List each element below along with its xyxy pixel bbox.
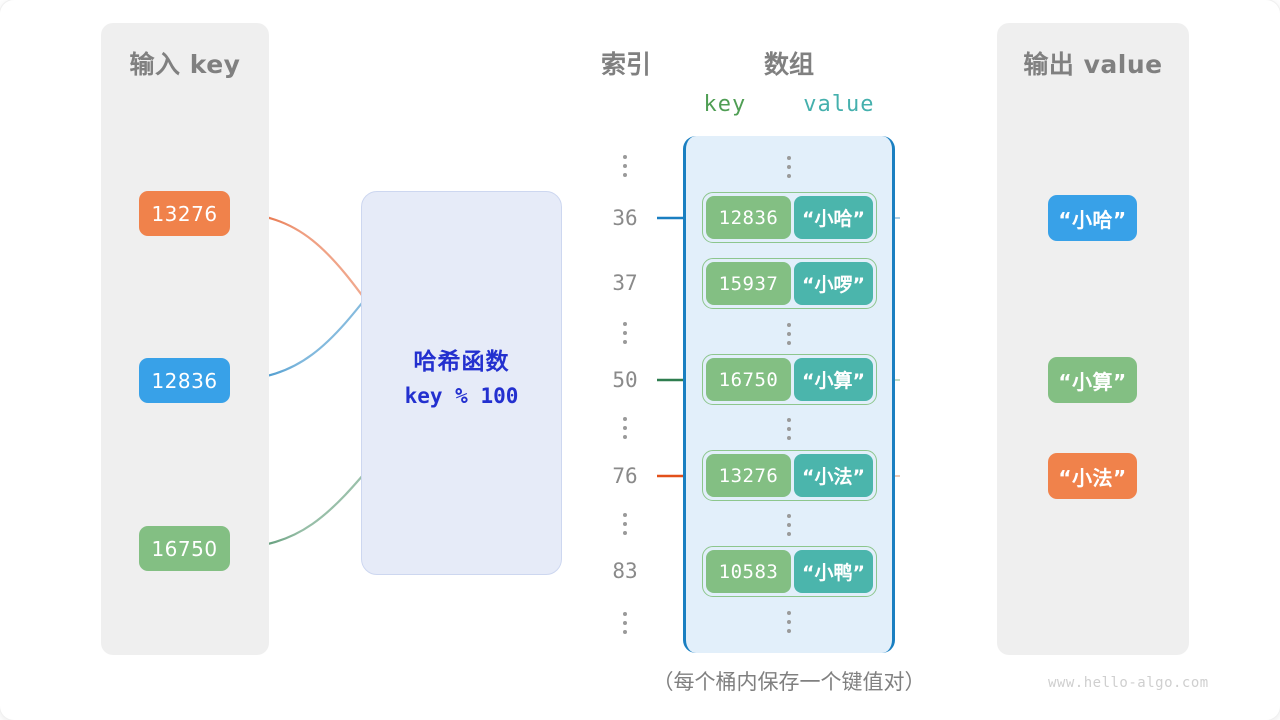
- output-value-xiaoha[interactable]: “小哈”: [1048, 195, 1137, 241]
- index-50: 50: [595, 368, 655, 392]
- array-key-cell: 16750: [706, 358, 791, 401]
- input-key-13276-label: 13276: [151, 202, 217, 226]
- index-column-header: 索引: [588, 45, 664, 81]
- output-value-xiaosuan-label: “小算”: [1058, 366, 1126, 395]
- output-value-xiaofa-label: “小法”: [1058, 462, 1126, 491]
- array-dots: [782, 323, 796, 345]
- array-key-cell: 12836: [706, 196, 791, 239]
- array-key-header-label: key: [704, 92, 747, 117]
- hash-function-box: 哈希函数 key % 100: [361, 191, 562, 575]
- array-key-cell: 15937: [706, 262, 791, 305]
- output-value-panel-title: 输出 value: [997, 45, 1189, 81]
- array-kv-header: key value: [683, 92, 895, 117]
- array-value-cell: “小啰”: [794, 262, 873, 305]
- hash-function-name: 哈希函数: [362, 342, 561, 376]
- array-dots: [782, 611, 796, 633]
- output-value-xiaofa[interactable]: “小法”: [1048, 453, 1137, 499]
- array-dots: [782, 514, 796, 536]
- index-dots: [618, 155, 632, 177]
- diagram-canvas: 输入 key 13276 12836 16750 哈希函数 key % 100 …: [0, 0, 1280, 720]
- array-row-12836[interactable]: 12836 “小哈”: [702, 192, 877, 243]
- array-value-header-label: value: [803, 92, 874, 117]
- index-dots: [618, 322, 632, 344]
- index-83: 83: [595, 559, 655, 583]
- array-value-cell: “小法”: [794, 454, 873, 497]
- array-column-header: 数组: [683, 45, 895, 81]
- hash-function-formula: key % 100: [362, 384, 561, 408]
- diagram-caption: （每个桶内保存一个键值对）: [589, 666, 989, 696]
- array-row-15937[interactable]: 15937 “小啰”: [702, 258, 877, 309]
- watermark: www.hello-algo.com: [1048, 675, 1258, 691]
- array-row-16750[interactable]: 16750 “小算”: [702, 354, 877, 405]
- index-36: 36: [595, 206, 655, 230]
- input-key-16750-label: 16750: [151, 537, 217, 561]
- array-value-cell: “小算”: [794, 358, 873, 401]
- input-key-16750[interactable]: 16750: [139, 526, 230, 571]
- index-76: 76: [595, 464, 655, 488]
- index-dots: [618, 417, 632, 439]
- array-key-cell: 13276: [706, 454, 791, 497]
- index-dots: [618, 513, 632, 535]
- array-key-cell: 10583: [706, 550, 791, 593]
- output-value-xiaoha-label: “小哈”: [1058, 204, 1126, 233]
- array-value-cell: “小哈”: [794, 196, 873, 239]
- array-dots: [782, 156, 796, 178]
- index-dots: [618, 612, 632, 634]
- input-key-panel-title: 输入 key: [101, 45, 269, 81]
- array-dots: [782, 418, 796, 440]
- output-value-panel: [997, 23, 1189, 655]
- array-row-10583[interactable]: 10583 “小鸭”: [702, 546, 877, 597]
- input-key-12836-label: 12836: [151, 369, 217, 393]
- input-key-12836[interactable]: 12836: [139, 358, 230, 403]
- index-37: 37: [595, 271, 655, 295]
- array-row-13276[interactable]: 13276 “小法”: [702, 450, 877, 501]
- input-key-13276[interactable]: 13276: [139, 191, 230, 236]
- array-value-cell: “小鸭”: [794, 550, 873, 593]
- output-value-xiaosuan[interactable]: “小算”: [1048, 357, 1137, 403]
